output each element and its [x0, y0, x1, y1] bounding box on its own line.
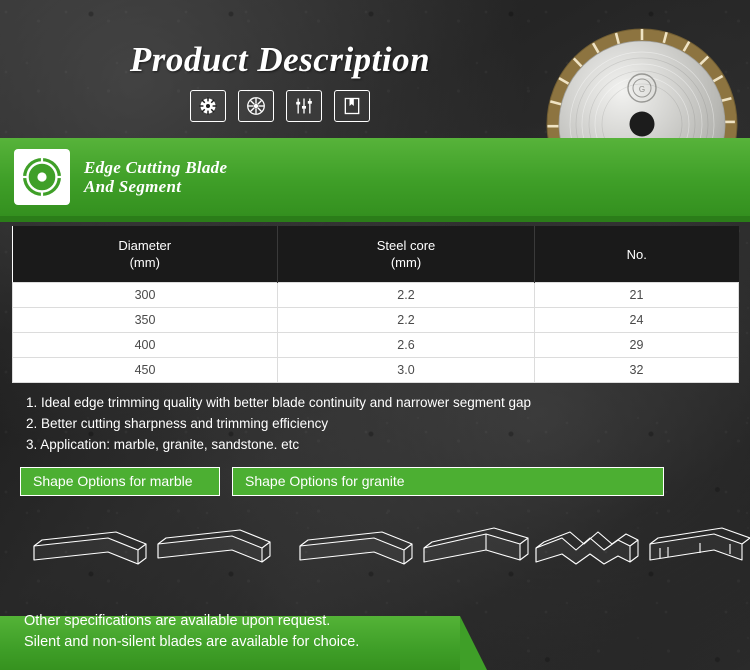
feature-list: 1. Ideal edge trimming quality with bett…	[0, 383, 750, 459]
page-title: Product Description	[0, 40, 560, 80]
marble-shape-1	[34, 532, 146, 564]
book-icon	[334, 90, 370, 122]
granite-shape-3	[536, 532, 638, 564]
cell-no: 24	[535, 308, 739, 333]
cell-diameter: 450	[13, 358, 278, 383]
cell-steel-core: 2.2	[278, 308, 535, 333]
cell-no: 32	[535, 358, 739, 383]
segment-shape-diagrams	[0, 504, 750, 596]
granite-shape-4	[650, 528, 750, 560]
table-row: 400 2.6 29	[13, 333, 739, 358]
header-diameter-line1: Diameter	[17, 237, 274, 254]
product-description-page: Product Description	[0, 0, 750, 670]
feature-item-2: 2. Better cutting sharpness and trimming…	[26, 413, 750, 434]
feature-item-3: 3. Application: marble, granite, sandsto…	[26, 434, 750, 455]
tools-icon	[286, 90, 322, 122]
table-row: 450 3.0 32	[13, 358, 739, 383]
tag-shape-options-marble: Shape Options for marble	[20, 467, 220, 496]
header-diameter: Diameter (mm)	[13, 226, 278, 283]
cell-steel-core: 3.0	[278, 358, 535, 383]
footer-line2: Silent and non-silent blades are availab…	[24, 632, 359, 653]
brand-bar: Edge Cutting Blade And Segment	[0, 138, 750, 216]
table-row: 350 2.2 24	[13, 308, 739, 333]
cell-no: 21	[535, 283, 739, 308]
granite-shape-2	[424, 528, 528, 562]
brand-bar-line1: Edge Cutting Blade	[84, 158, 227, 177]
header-no: No.	[535, 226, 739, 283]
blade-circle-icon	[14, 149, 70, 205]
table-header-row: Diameter (mm) Steel core (mm) No.	[13, 226, 739, 283]
granite-shape-1	[300, 532, 412, 564]
header-steel-core-line2: (mm)	[282, 254, 530, 271]
cell-diameter: 350	[13, 308, 278, 333]
table-row: 300 2.2 21	[13, 283, 739, 308]
spec-table-zone: Diameter (mm) Steel core (mm) No. 300 2.…	[0, 216, 750, 383]
saw-blade-icon	[190, 90, 226, 122]
header-steel-core: Steel core (mm)	[278, 226, 535, 283]
cell-diameter: 400	[13, 333, 278, 358]
spec-table: Diameter (mm) Steel core (mm) No. 300 2.…	[12, 226, 739, 383]
header-steel-core-line1: Steel core	[282, 237, 530, 254]
brand-bar-text: Edge Cutting Blade And Segment	[84, 158, 227, 196]
cell-steel-core: 2.2	[278, 283, 535, 308]
footer-note: Other specifications are available upon …	[0, 604, 750, 670]
feature-item-1: 1. Ideal edge trimming quality with bett…	[26, 392, 750, 413]
brand-bar-line2: And Segment	[84, 177, 227, 196]
header-no-line1: No.	[539, 246, 735, 263]
cup-wheel-icon	[238, 90, 274, 122]
cell-diameter: 300	[13, 283, 278, 308]
cell-no: 29	[535, 333, 739, 358]
footer-text: Other specifications are available upon …	[24, 611, 359, 653]
header-diameter-line2: (mm)	[17, 254, 274, 271]
marble-shape-2	[158, 530, 270, 562]
page-header: Product Description	[0, 0, 750, 138]
cell-steel-core: 2.6	[278, 333, 535, 358]
footer-line1: Other specifications are available upon …	[24, 611, 359, 632]
shape-option-tags: Shape Options for marble Shape Options f…	[0, 467, 750, 496]
tag-shape-options-granite: Shape Options for granite	[232, 467, 664, 496]
feature-icon-row	[0, 90, 560, 122]
